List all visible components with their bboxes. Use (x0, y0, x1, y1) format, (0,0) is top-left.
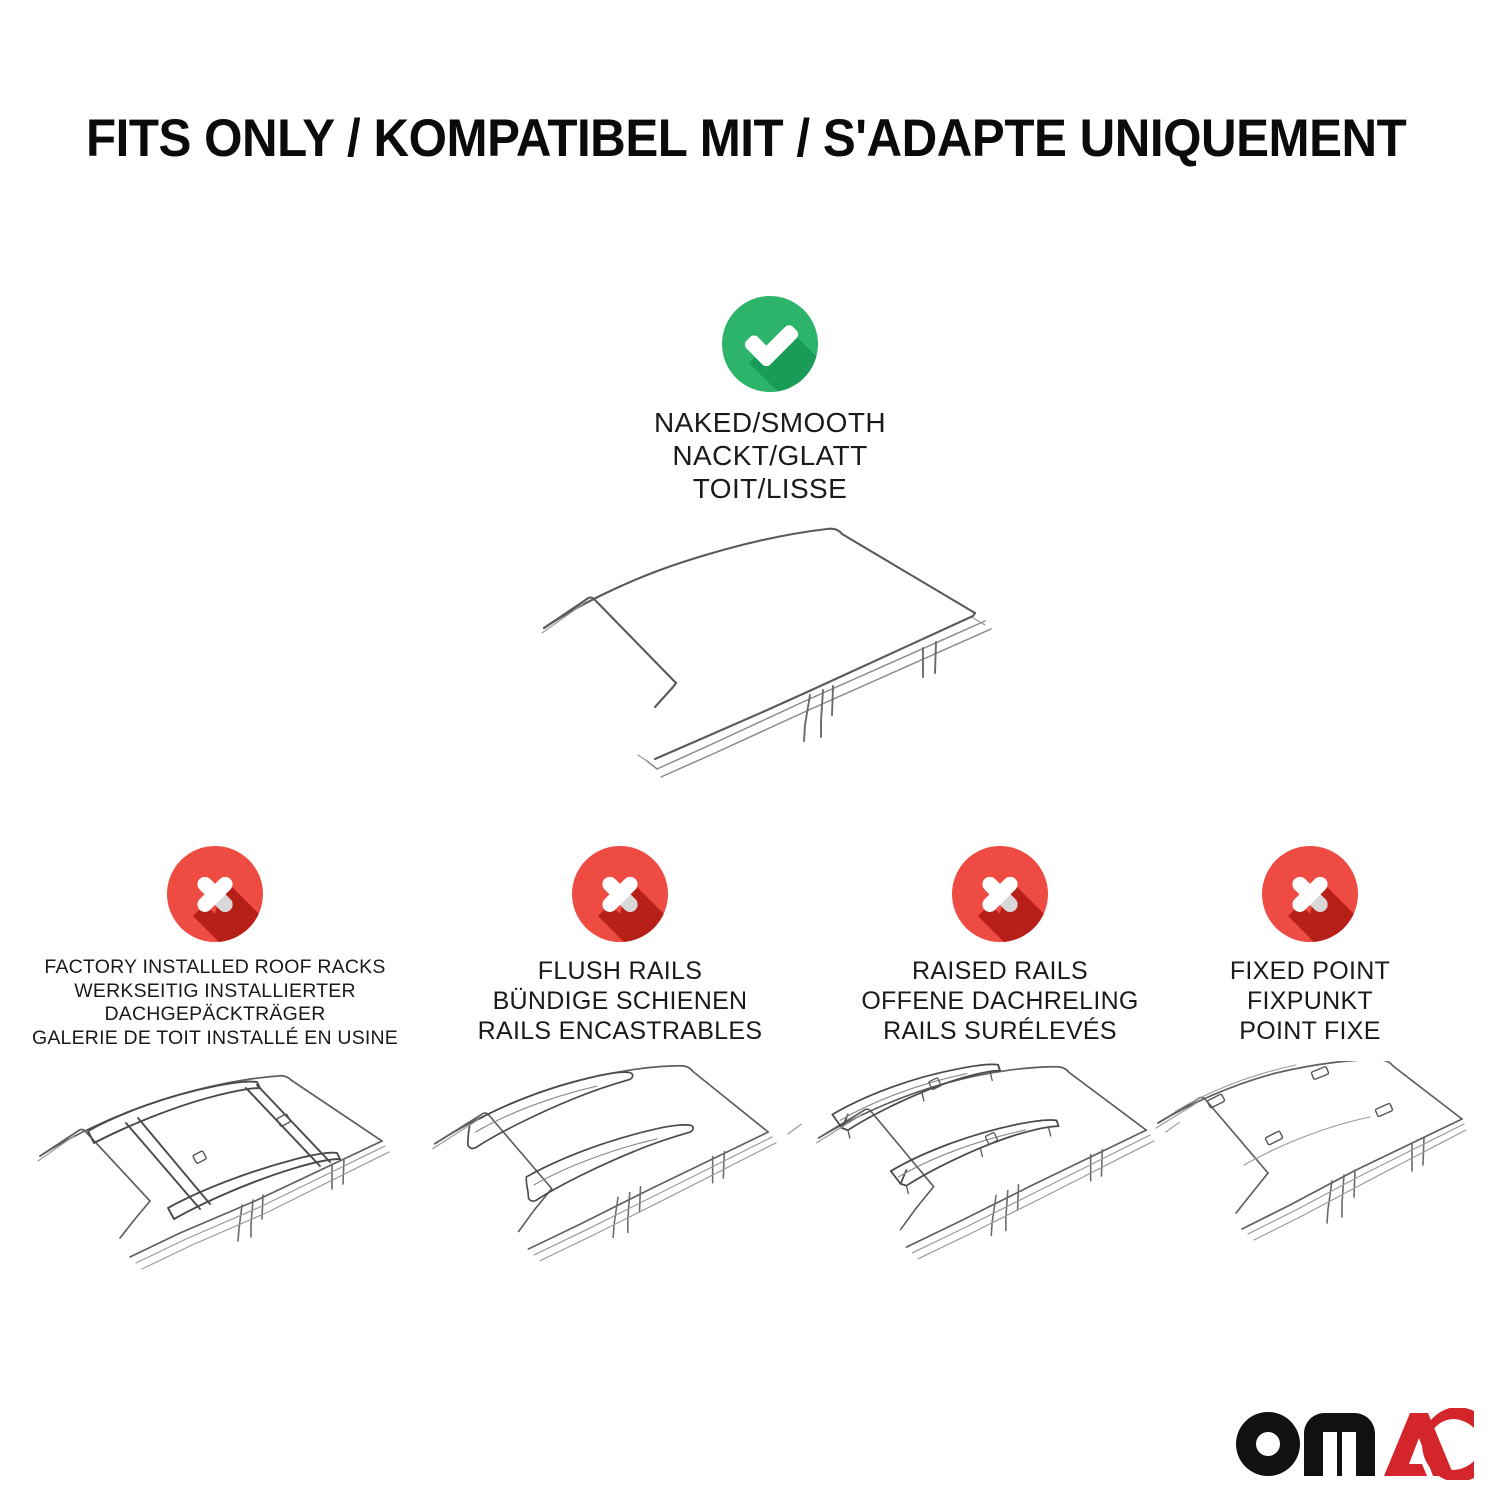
x-circle-icon (572, 846, 668, 942)
fitment-compatibility-infographic: FITS ONLY / KOMPATIBEL MIT / S'ADAPTE UN… (0, 0, 1500, 1500)
incompatible-label-fr: GALERIE DE TOIT INSTALLÉ EN USINE (10, 1027, 420, 1051)
incompatible-label-en: FIXED POINT (1185, 956, 1435, 986)
incompatible-label-en: FACTORY INSTALLED ROOF RACKS (10, 956, 420, 980)
incompatible-label-fr: POINT FIXE (1185, 1016, 1435, 1046)
car-roof-raised-rails-illustration (805, 1061, 1195, 1286)
page-title: FITS ONLY / KOMPATIBEL MIT / S'ADAPTE UN… (86, 108, 1332, 170)
incompatible-label-en: FLUSH RAILS (425, 956, 815, 986)
incompatible-column-fixed-point: FIXED POINT FIXPUNKT POINT FIXE (1185, 846, 1435, 1046)
incompatible-column-flush-rails: FLUSH RAILS BÜNDIGE SCHIENEN RAILS ENCAS… (425, 846, 815, 1046)
check-circle-icon (722, 296, 818, 392)
incompatible-label-de-1: FIXPUNKT (1185, 986, 1435, 1016)
incompatible-label-fr: RAILS ENCASTRABLES (425, 1016, 815, 1046)
car-roof-factory-roof-racks-illustration (5, 1061, 415, 1286)
incompatible-label-en: RAISED RAILS (805, 956, 1195, 986)
incompatible-label-de-2: DACHGEPÄCKTRÄGER (10, 1003, 420, 1027)
incompatible-labels: RAISED RAILS OFFENE DACHRELING RAILS SUR… (805, 956, 1195, 1046)
x-circle-icon (167, 846, 263, 942)
omac-logo (1232, 1408, 1474, 1480)
compatible-label-en: NAKED/SMOOTH (520, 406, 1020, 439)
compatible-label-fr: TOIT/LISSE (520, 472, 1020, 505)
compatible-section: NAKED/SMOOTH NACKT/GLATT TOIT/LISSE (520, 296, 1020, 505)
incompatible-label-de-1: OFFENE DACHRELING (805, 986, 1195, 1016)
incompatible-label-de-1: WERKSEITIG INSTALLIERTER (10, 980, 420, 1004)
incompatible-label-de-1: BÜNDIGE SCHIENEN (425, 986, 815, 1016)
x-circle-icon (952, 846, 1048, 942)
car-roof-flush-rails-illustration (425, 1061, 815, 1286)
incompatible-column-factory-roof-racks: FACTORY INSTALLED ROOF RACKS WERKSEITIG … (10, 846, 420, 1050)
compatible-labels: NAKED/SMOOTH NACKT/GLATT TOIT/LISSE (520, 406, 1020, 505)
compatible-label-de: NACKT/GLATT (520, 439, 1020, 472)
car-roof-naked-smooth-illustration (505, 515, 1025, 795)
incompatible-column-raised-rails: RAISED RAILS OFFENE DACHRELING RAILS SUR… (805, 846, 1195, 1046)
car-roof-fixed-point-illustration (1150, 1061, 1470, 1286)
x-circle-icon (1262, 846, 1358, 942)
incompatible-label-fr: RAILS SURÉLEVÉS (805, 1016, 1195, 1046)
incompatible-labels: FIXED POINT FIXPUNKT POINT FIXE (1185, 956, 1435, 1046)
incompatible-labels: FLUSH RAILS BÜNDIGE SCHIENEN RAILS ENCAS… (425, 956, 815, 1046)
incompatible-labels: FACTORY INSTALLED ROOF RACKS WERKSEITIG … (10, 956, 420, 1050)
